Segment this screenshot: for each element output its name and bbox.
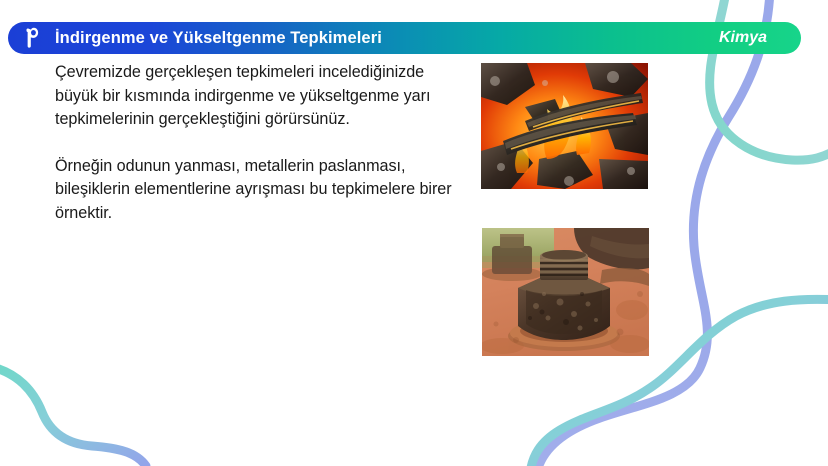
decor-curve-bottom-left (0, 366, 146, 466)
rusted-bolt-photo (482, 228, 649, 356)
burning-wood-photo (481, 63, 648, 189)
paragraph-intro: Çevremizde gerçekleşen tepkimeleri incel… (55, 61, 455, 132)
header-subject-label: Kimya (719, 29, 767, 47)
body-text-block: Çevremizde gerçekleşen tepkimeleri incel… (55, 61, 455, 225)
paragraph-examples: Örneğin odunun yanması, metallerin pasla… (55, 155, 455, 226)
pepee-p-logo-icon (16, 23, 46, 53)
slide-canvas: İndirgenme ve Yükseltgenme Tepkimeleri K… (0, 0, 828, 466)
header-bar: İndirgenme ve Yükseltgenme Tepkimeleri K… (8, 22, 801, 54)
header-title: İndirgenme ve Yükseltgenme Tepkimeleri (55, 29, 382, 48)
